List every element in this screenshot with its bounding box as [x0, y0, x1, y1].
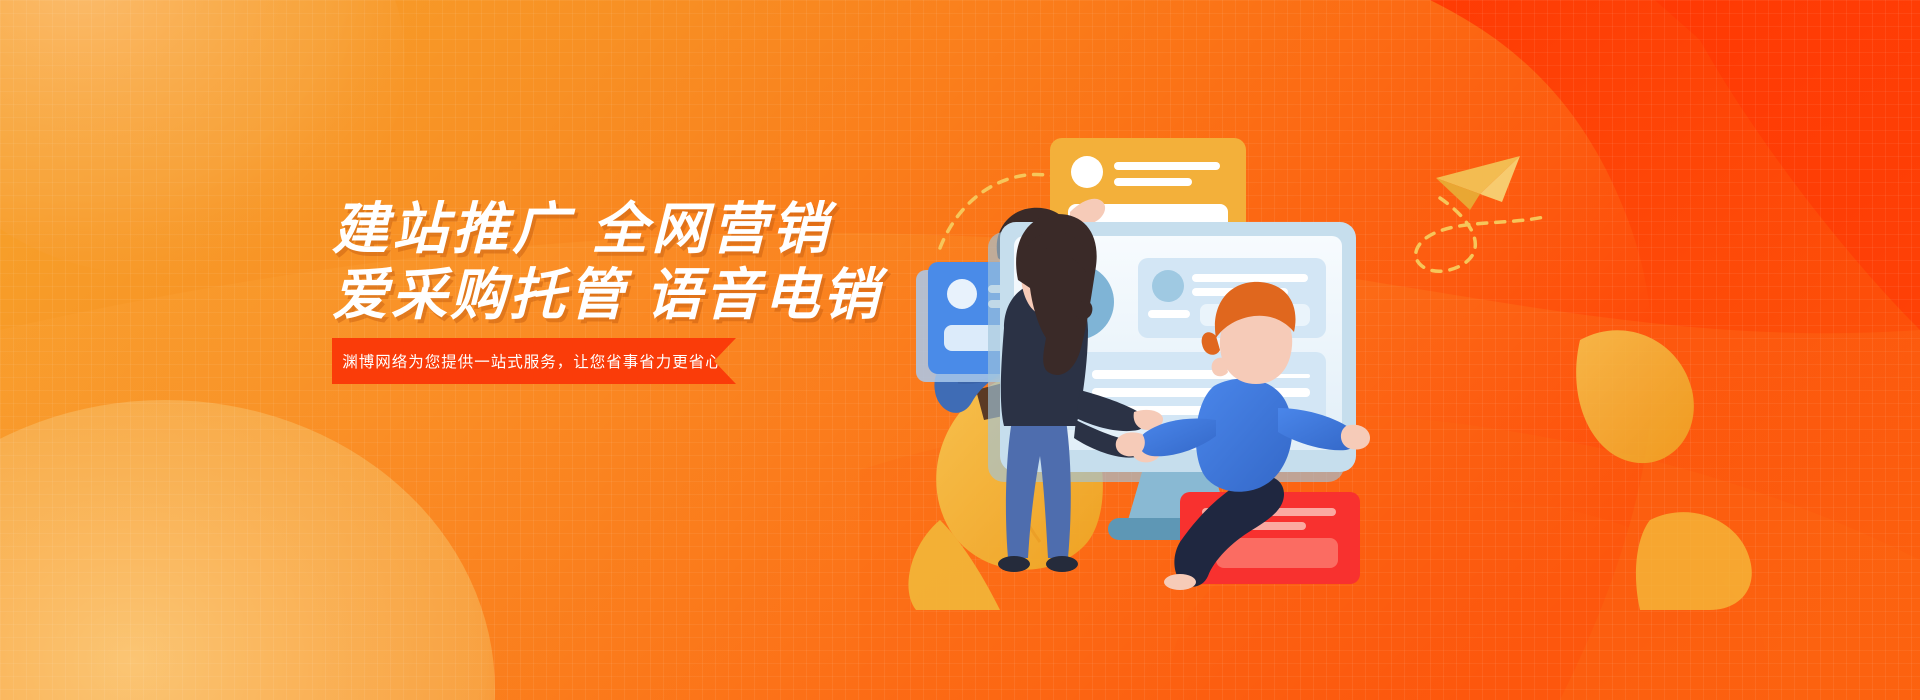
- paper-plane-icon: [1436, 156, 1520, 210]
- tagline-ribbon: 渊博网络为您提供一站式服务，让您省事省力更省心: [332, 338, 736, 384]
- tagline-text: 渊博网络为您提供一站式服务，让您省事省力更省心: [342, 350, 722, 372]
- illustration-svg: [880, 90, 1780, 610]
- promo-banner: 建站推广 全网营销 爱采购托管 语音电销 渊博网络为您提供一站式服务，让您省事省…: [0, 0, 1920, 700]
- dashed-trail-line: [1416, 198, 1548, 271]
- hero-illustration: [880, 90, 1780, 610]
